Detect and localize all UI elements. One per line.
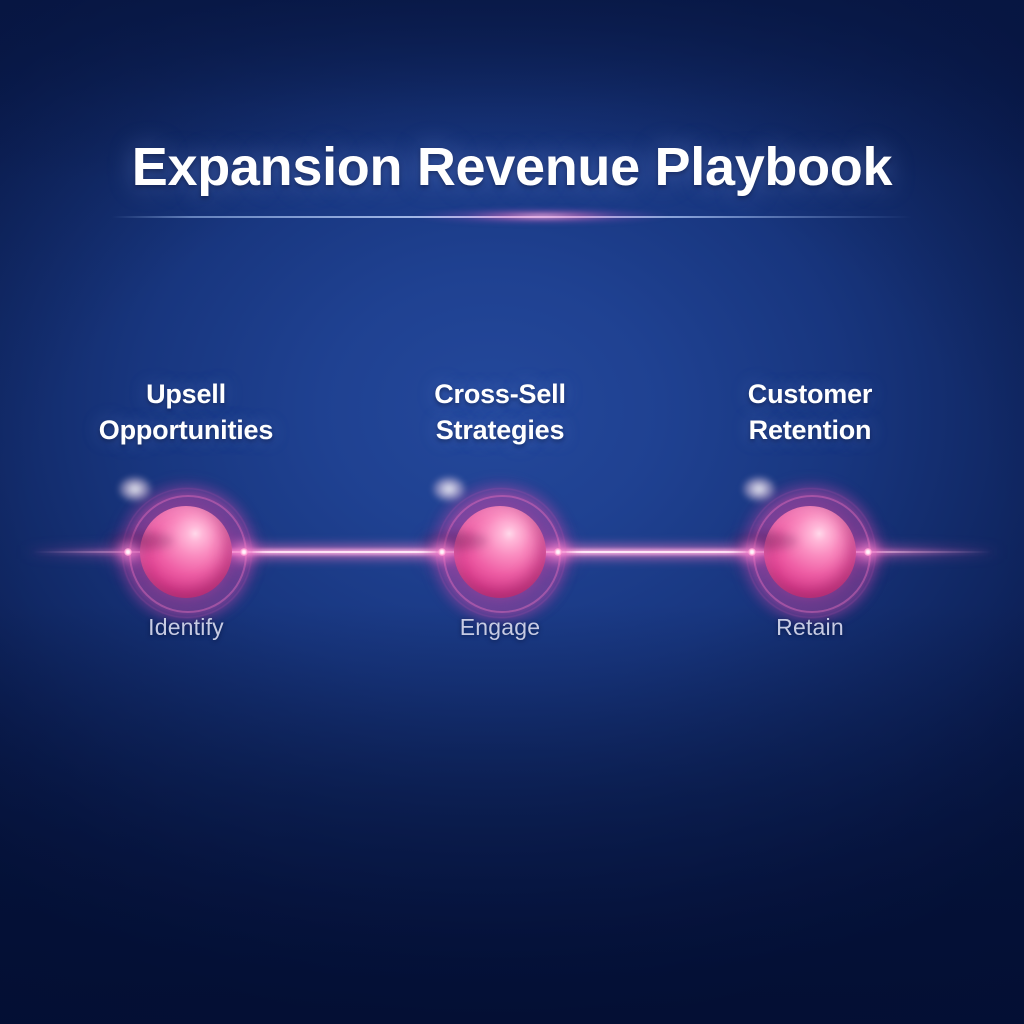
node-sphere-icon[interactable] xyxy=(764,506,856,598)
page-title: Expansion Revenue Playbook xyxy=(0,136,1024,198)
node-sphere-highlight xyxy=(742,476,776,502)
node-connector-dot-left-icon xyxy=(438,548,446,556)
node-sphere-icon[interactable] xyxy=(140,506,232,598)
node-title-1: Upsell Opportunities xyxy=(56,377,316,448)
node-sphere-shadow xyxy=(106,530,174,552)
node-sphere-icon[interactable] xyxy=(454,506,546,598)
node-connector-dot-right-icon xyxy=(554,548,562,556)
node-connector-dot-right-icon xyxy=(240,548,248,556)
node-title-line2: Retention xyxy=(749,415,872,445)
infographic-canvas: Expansion Revenue Playbook Upsell Opport… xyxy=(0,0,1024,1024)
node-title-2: Cross-Sell Strategies xyxy=(370,377,630,448)
node-title-line2: Opportunities xyxy=(99,415,273,445)
node-title-line1: Upsell xyxy=(146,379,226,409)
node-connector-dot-left-icon xyxy=(748,548,756,556)
title-divider xyxy=(112,210,912,224)
node-connector-dot-left-icon xyxy=(124,548,132,556)
background-bottom-fade xyxy=(0,604,1024,1024)
node-subtitle-3: Retain xyxy=(700,614,920,641)
node-title-line1: Cross-Sell xyxy=(434,379,566,409)
node-sphere-shadow xyxy=(420,530,488,552)
node-connector-dot-right-icon xyxy=(864,548,872,556)
node-title-3: Customer Retention xyxy=(680,377,940,448)
node-title-line1: Customer xyxy=(748,379,872,409)
node-sphere-shadow xyxy=(730,530,798,552)
divider-glow xyxy=(412,206,672,226)
node-sphere-highlight xyxy=(432,476,466,502)
node-title-line2: Strategies xyxy=(436,415,565,445)
node-subtitle-1: Identify xyxy=(76,614,296,641)
node-subtitle-2: Engage xyxy=(390,614,610,641)
node-sphere-highlight xyxy=(118,476,152,502)
